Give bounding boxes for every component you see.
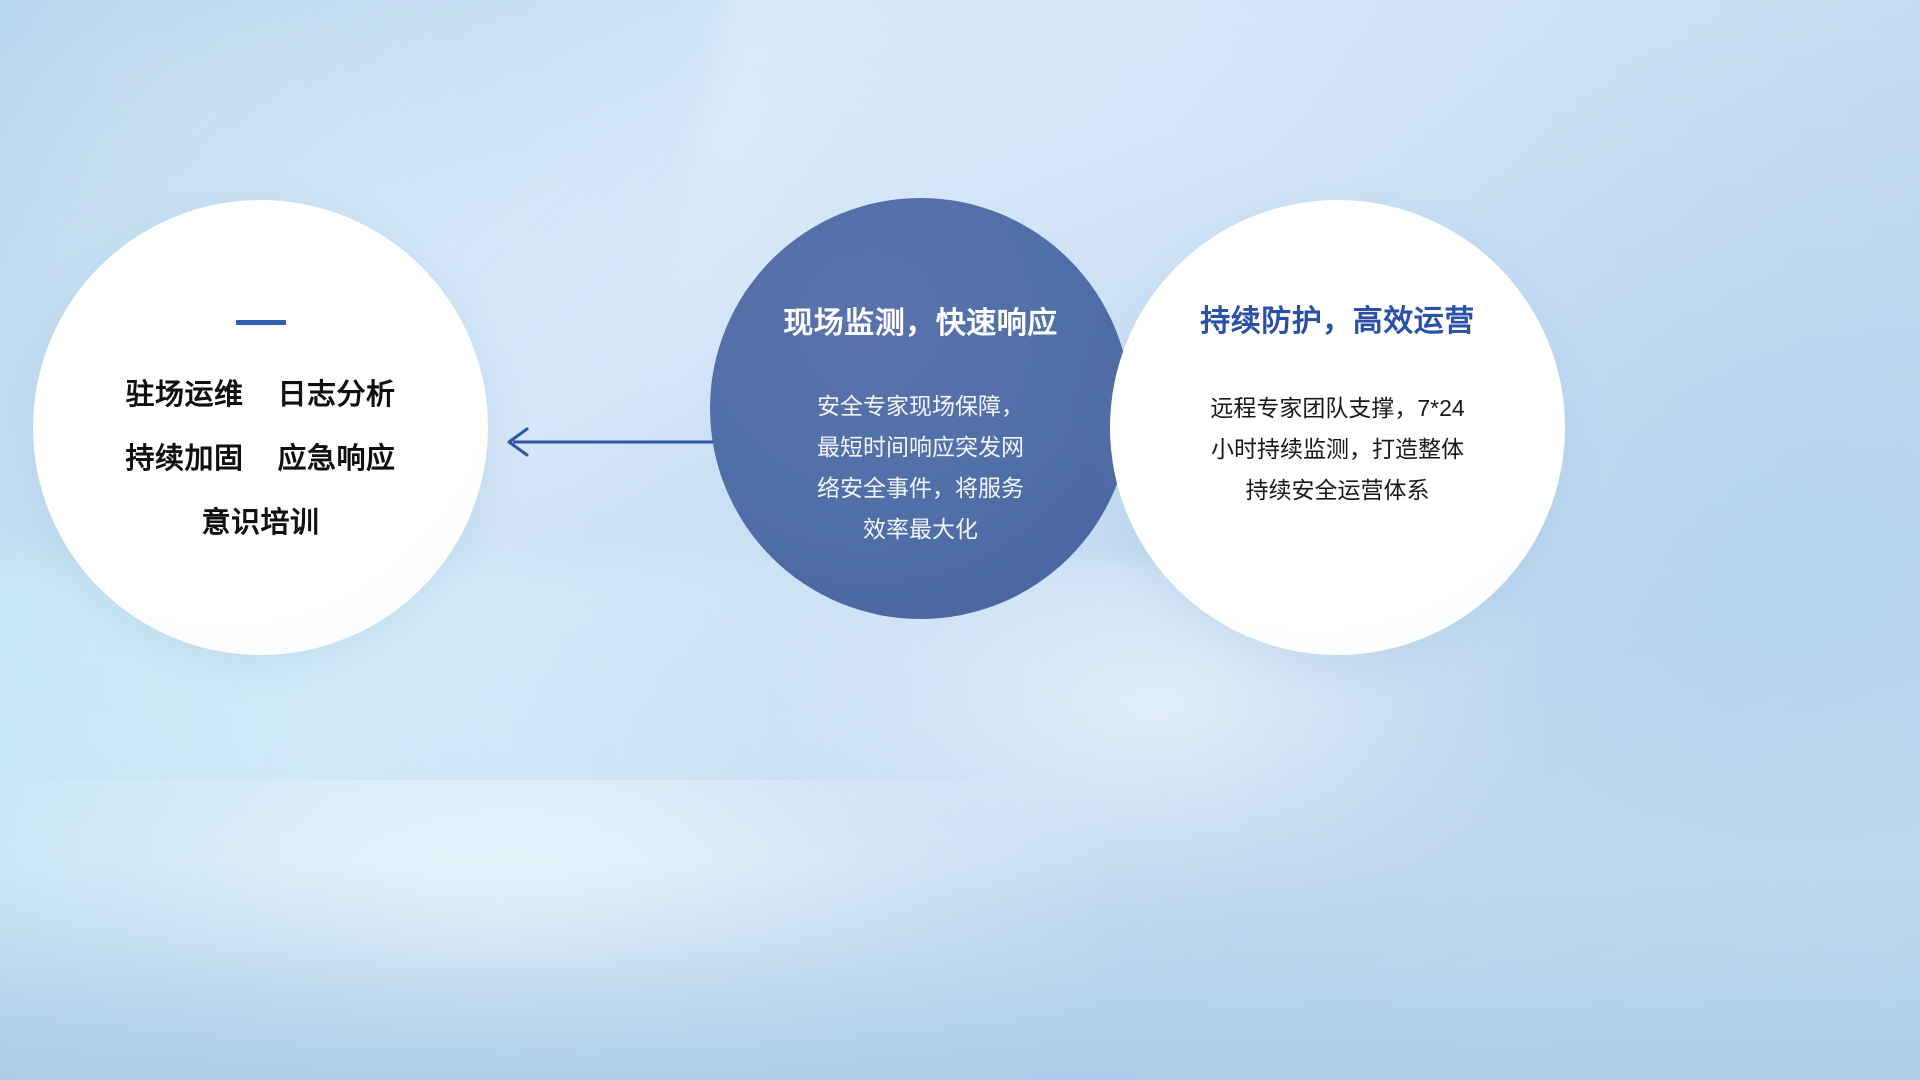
continuous-protection-title: 持续防护，高效运营 [1200, 296, 1475, 340]
capability-item: 持续加固 [125, 435, 243, 477]
capability-item: 驻场运维 [125, 371, 243, 413]
continuous-protection-circle[interactable]: 持续防护，高效运营 远程专家团队支撑，7*24 小时持续监测，打造整体 持续安全… [1110, 200, 1565, 655]
onsite-monitoring-circle[interactable]: 现场监测，快速响应 安全专家现场保障， 最短时间响应突发网 络安全事件，将服务 … [710, 198, 1131, 619]
diagram-stage: 驻场运维 日志分析 持续加固 应急响应 意识培训 现场监测，快速响应 安全专家现… [0, 0, 1920, 1080]
divider-dash [236, 320, 286, 325]
continuous-protection-content: 持续防护，高效运营 远程专家团队支撑，7*24 小时持续监测，打造整体 持续安全… [1110, 200, 1565, 655]
continuous-protection-body: 远程专家团队支撑，7*24 小时持续监测，打造整体 持续安全运营体系 [1150, 388, 1526, 511]
capability-row: 意识培训 [201, 499, 319, 541]
onsite-monitoring-body: 安全专家现场保障， 最短时间响应突发网 络安全事件，将服务 效率最大化 [771, 386, 1071, 550]
onsite-monitoring-content: 现场监测，快速响应 安全专家现场保障， 最短时间响应突发网 络安全事件，将服务 … [710, 198, 1131, 619]
capabilities-circle[interactable]: 驻场运维 日志分析 持续加固 应急响应 意识培训 [33, 200, 488, 655]
capability-item: 日志分析 [278, 371, 396, 413]
capability-row: 驻场运维 日志分析 [125, 371, 395, 413]
capabilities-content: 驻场运维 日志分析 持续加固 应急响应 意识培训 [33, 200, 488, 655]
capability-rows: 驻场运维 日志分析 持续加固 应急响应 意识培训 [125, 371, 395, 541]
onsite-monitoring-title: 现场监测，快速响应 [783, 298, 1058, 342]
capability-row: 持续加固 应急响应 [125, 435, 395, 477]
capability-item: 应急响应 [278, 435, 396, 477]
capability-item: 意识培训 [201, 499, 319, 541]
